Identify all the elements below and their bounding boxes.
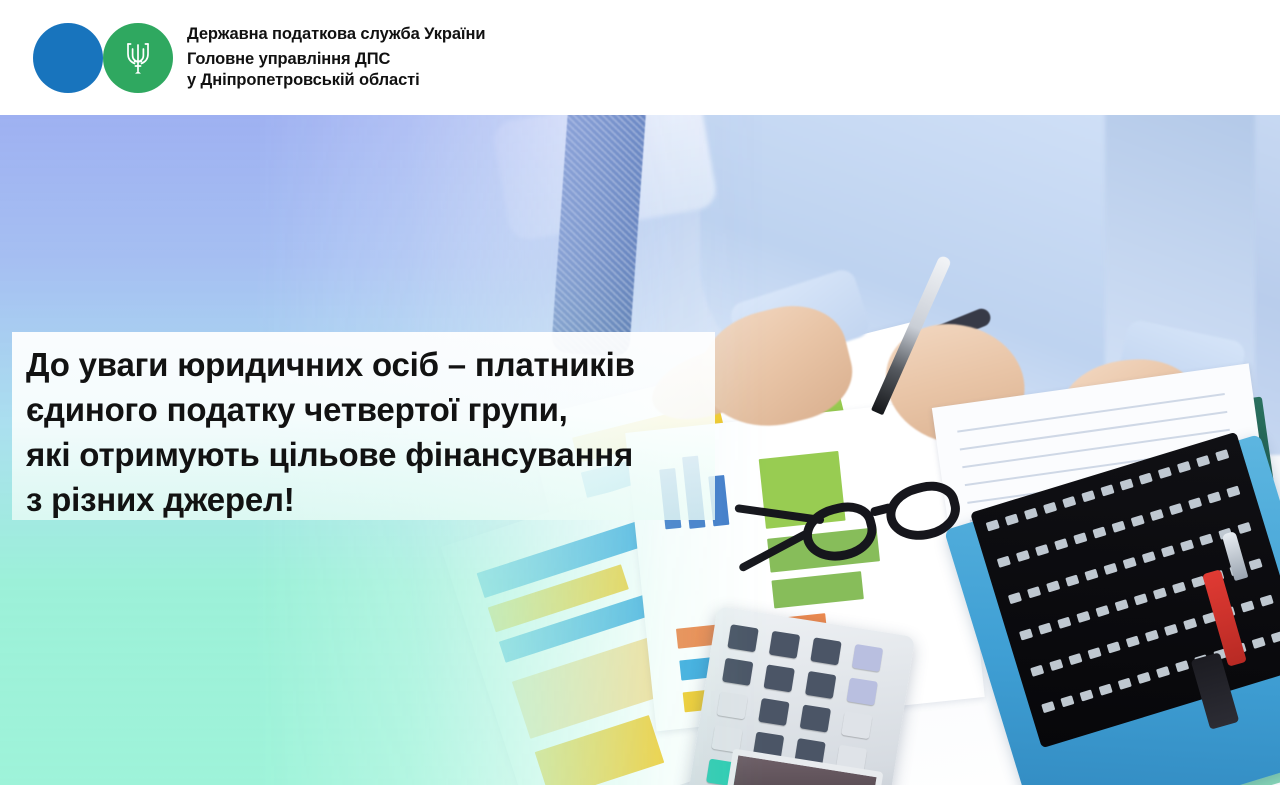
headline-overlay-box: До уваги юридичних осіб – платників єдин… (12, 332, 715, 520)
headline-line-2: єдиного податку четвертої групи, (26, 387, 715, 432)
site-header: Державна податкова служба України Головн… (0, 0, 1280, 115)
agency-name-national: Державна податкова служба України (187, 24, 485, 45)
tax-service-announcement-banner: Державна податкова служба України Головн… (0, 0, 1280, 785)
logo-blue-circle-icon (33, 23, 103, 93)
headline-line-1: До уваги юридичних осіб – платників (26, 342, 715, 387)
headline-line-4: з різних джерел! (26, 477, 715, 522)
headline-line-3: які отримують цільове фінансування (26, 432, 715, 477)
agency-name-regional-line1: Головне управління ДПС (187, 49, 485, 70)
agency-name-block: Державна податкова служба України Головн… (187, 24, 485, 92)
ukraine-trident-icon (124, 41, 152, 75)
agency-logo (33, 23, 173, 93)
agency-name-regional-line2: у Дніпропетровській області (187, 70, 485, 91)
logo-green-circle-icon (103, 23, 173, 93)
